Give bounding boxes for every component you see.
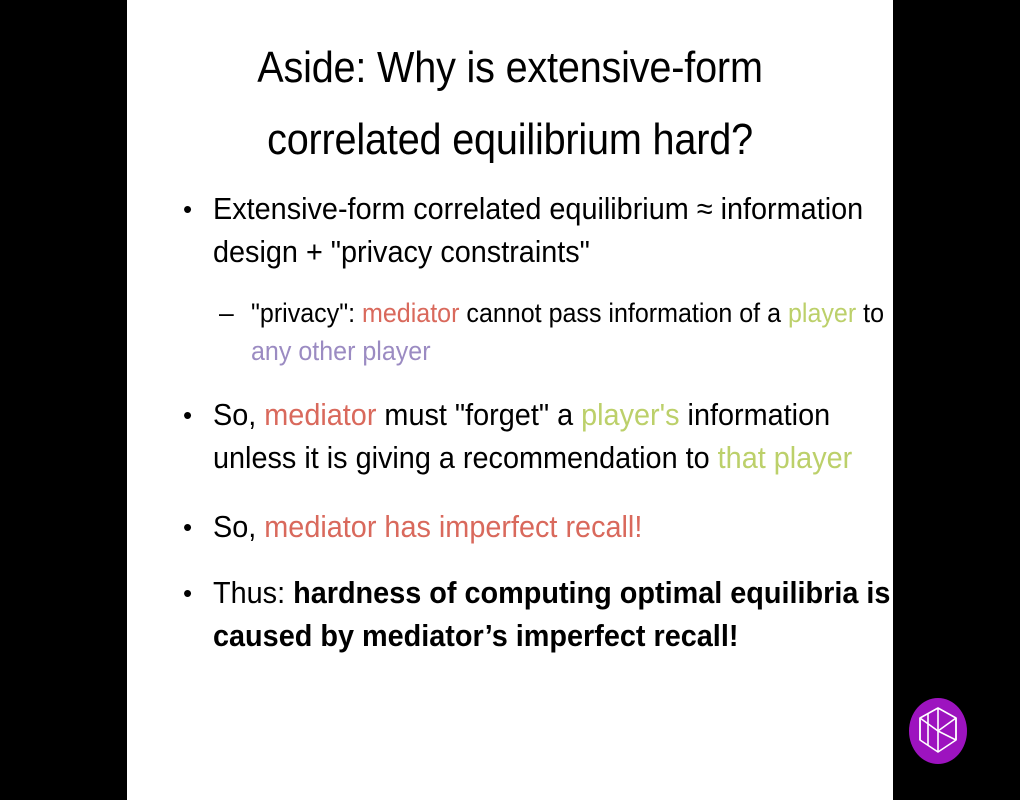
slide-title-line-1: Aside: Why is extensive-form — [165, 32, 854, 104]
bullet-marker-dot: • — [183, 506, 192, 549]
bullet-text-4: So, mediator has imperfect recall! — [213, 506, 893, 549]
bullet-item-5: • Thus: hardness of computing optimal eq… — [175, 572, 893, 658]
bullet-text-1: Extensive-form correlated equilibrium ≈ … — [213, 188, 893, 274]
bullet-text-5: Thus: hardness of computing optimal equi… — [213, 572, 893, 658]
bullet-text-2: "privacy": mediator cannot pass informat… — [251, 294, 893, 370]
bullet-marker-dot: • — [183, 394, 192, 437]
bullet-marker-dot: • — [183, 572, 192, 615]
slide-body: • Extensive-form correlated equilibrium … — [175, 188, 893, 658]
bullet-marker-dash: – — [219, 294, 234, 332]
bullet-item-2: – "privacy": mediator cannot pass inform… — [175, 294, 893, 370]
bullet-marker-dot: • — [183, 188, 192, 231]
bullet-item-4: • So, mediator has imperfect recall! — [175, 506, 893, 549]
slide-title: Aside: Why is extensive-form correlated … — [165, 32, 854, 175]
bullet-item-1: • Extensive-form correlated equilibrium … — [175, 188, 893, 274]
bullet-item-3: • So, mediator must "forget" a player's … — [175, 394, 893, 480]
presentation-slide: Aside: Why is extensive-form correlated … — [127, 0, 893, 800]
screen-canvas: Aside: Why is extensive-form correlated … — [0, 0, 1020, 800]
slide-title-line-2: correlated equilibrium hard? — [165, 104, 854, 176]
crystal-hexagon-logo — [906, 695, 970, 767]
bullet-text-3: So, mediator must "forget" a player's in… — [213, 394, 893, 480]
logo-svg — [906, 695, 970, 767]
